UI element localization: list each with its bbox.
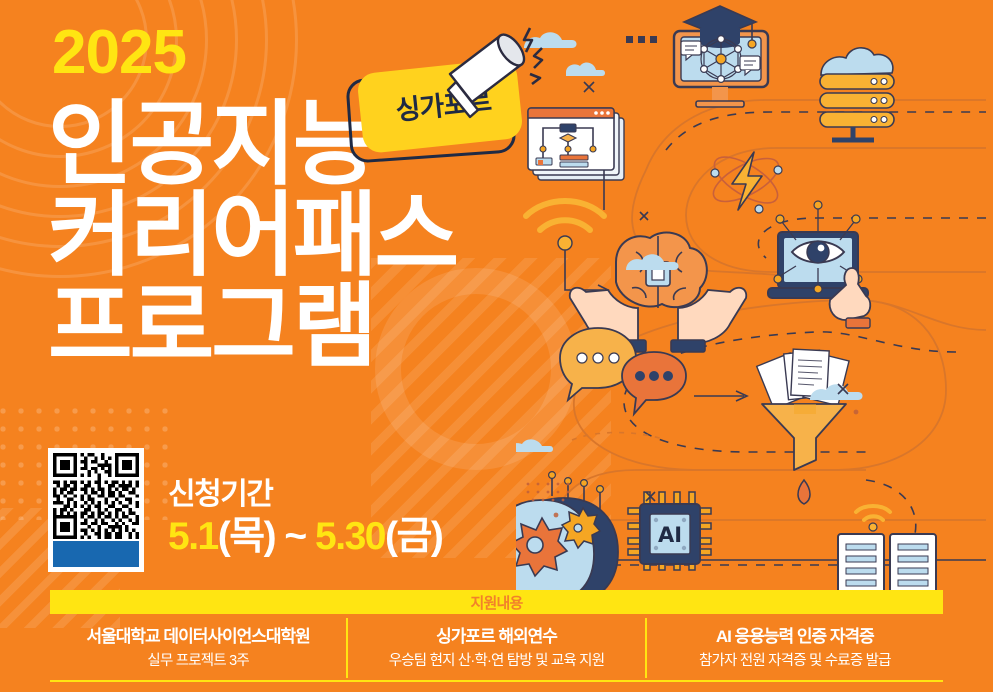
singapore-badge: 싱가포르 (338, 22, 568, 197)
date-range-separator: ~ (284, 515, 305, 558)
atom-lightning-icon (707, 148, 785, 213)
application-period-label: 신청기간 (168, 478, 442, 513)
documents-funnel-icon (757, 349, 849, 504)
ai-illustration: .ln{fill:none;stroke:#3a3a52;stroke-widt… (516, 0, 993, 600)
cloud-server-icon (820, 48, 894, 140)
year-label: 2025 (52, 22, 186, 84)
start-date-day: (목) (218, 515, 275, 558)
laptop-eye-icon (768, 201, 870, 328)
dot-row-decoration (626, 36, 657, 43)
end-date-day: (금) (385, 515, 442, 558)
title-line-3: 프로그램 (48, 282, 518, 373)
ai-chip-icon: AI (628, 492, 711, 570)
support-columns: 서울대학교 데이터사이언스대학원 실무 프로젝트 3주 싱가포르 해외연수 우승… (50, 618, 943, 678)
application-period-dates: 5.1(목) ~ 5.30(금) (168, 515, 442, 560)
support-bar-label: 지원내용 (470, 592, 522, 613)
support-column-3: AI 응용능력 인증 자격증 참가자 전원 자격증 및 수료증 발급 (645, 618, 943, 678)
support-bar: 지원내용 (50, 590, 943, 614)
end-date-number: 5.30 (315, 515, 385, 558)
chat-bubbles-icon (560, 328, 747, 414)
support-column-1-subtitle: 실무 프로젝트 3주 (147, 652, 249, 671)
megaphone-icon (438, 22, 568, 132)
qr-code[interactable] (48, 448, 144, 572)
graduation-cap-monitor-icon (674, 6, 768, 107)
support-column-2: 싱가포르 해외연수 우승팀 현지 산·학·연 탐방 및 교육 지원 (346, 618, 644, 678)
start-date-number: 5.1 (168, 515, 218, 558)
support-column-2-title: 싱가포르 해외연수 (436, 626, 557, 648)
support-column-1-title: 서울대학교 데이터사이언스대학원 (87, 626, 310, 648)
support-column-1: 서울대학교 데이터사이언스대학원 실무 프로젝트 3주 (50, 618, 346, 678)
bottom-divider (50, 680, 943, 682)
support-column-3-title: AI 응용능력 인증 자격증 (716, 626, 874, 648)
head-gears-icon (516, 472, 618, 600)
qr-code-caption-bar (53, 541, 139, 567)
support-column-3-subtitle: 참가자 전원 자격증 및 수료증 발급 (699, 652, 891, 671)
support-column-2-subtitle: 우승팀 현지 산·학·연 탐방 및 교육 지원 (389, 652, 605, 671)
title-line-2: 커리어패스 (48, 191, 518, 282)
svg-text:AI: AI (658, 523, 682, 547)
poster-root: .ln{fill:none;stroke:#3a3a52;stroke-widt… (0, 0, 993, 692)
qr-code-image (53, 453, 139, 539)
application-period: 신청기간 5.1(목) ~ 5.30(금) (168, 478, 442, 559)
